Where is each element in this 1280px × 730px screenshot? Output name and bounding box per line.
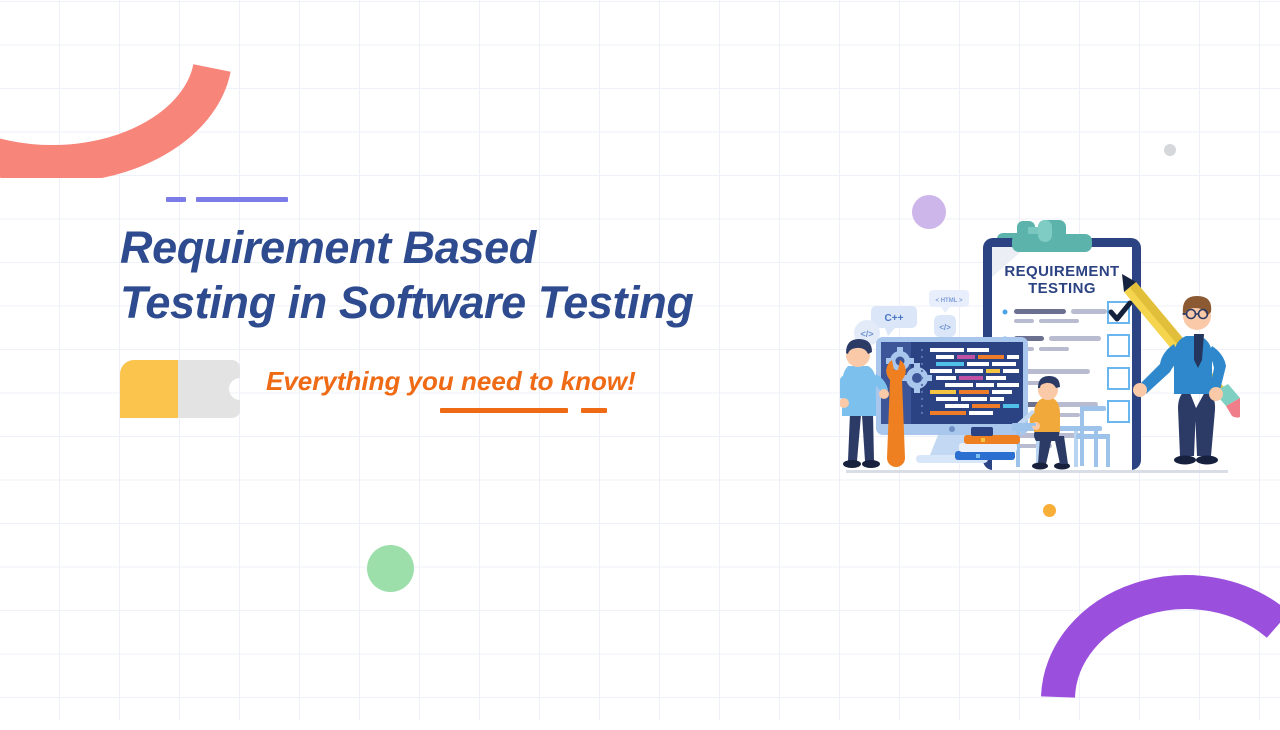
subtitle-row: Everything you need to know!	[120, 352, 820, 424]
code-bubble-small: </>	[934, 315, 956, 337]
subtitle-dash-short	[581, 408, 607, 413]
floor-line	[846, 470, 1228, 473]
html-tag-bubble: < HTML >	[929, 290, 969, 313]
accent-dash-short	[166, 197, 186, 202]
clipboard-title-line-2: TESTING	[1028, 280, 1096, 297]
svg-text:</>: </>	[939, 323, 951, 332]
gray-dot	[1164, 144, 1176, 156]
subtitle: Everything you need to know!	[266, 366, 636, 397]
clipboard-title-line-1: REQUIREMENT	[1004, 263, 1119, 280]
svg-text:< HTML >: < HTML >	[936, 298, 963, 304]
puzzle-block	[120, 360, 240, 418]
subtitle-dash-long	[440, 408, 568, 413]
orange-accent-rule	[440, 408, 607, 413]
page-title: Requirement Based Testing in Software Te…	[120, 220, 820, 330]
wrench-icon	[886, 360, 906, 467]
coral-arc	[0, 28, 232, 183]
svg-text:</>: </>	[860, 329, 873, 339]
green-dot	[367, 545, 414, 592]
violet-arc	[1040, 565, 1280, 730]
accent-dash-long	[196, 197, 288, 202]
purple-accent-rule	[166, 196, 820, 202]
figure-pencil-inspector	[1133, 296, 1226, 465]
orange-dot	[1043, 504, 1056, 517]
requirement-testing-illustration: REQUIREMENT TESTING <	[840, 198, 1240, 488]
hero-text-block: Requirement Based Testing in Software Te…	[120, 196, 820, 424]
svg-text:C++: C++	[885, 313, 904, 324]
